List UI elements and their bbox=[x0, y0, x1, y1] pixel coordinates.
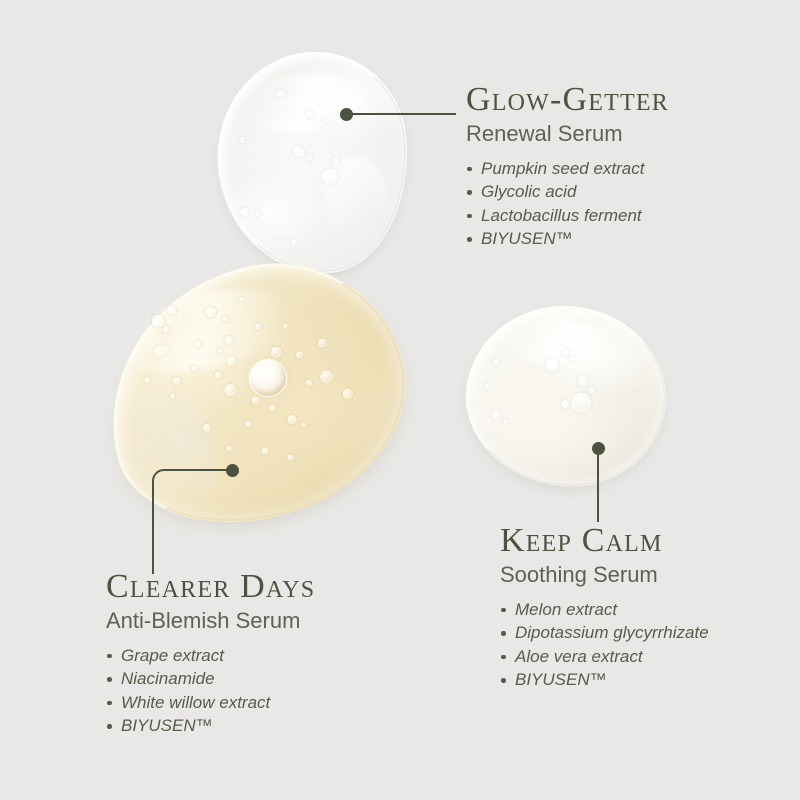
swatch-clearer-days bbox=[80, 235, 432, 550]
ingredient-item: White willow extract bbox=[106, 691, 315, 715]
ingredient-list: Grape extract Niacinamide White willow e… bbox=[106, 644, 315, 738]
product-title: Keep Calm bbox=[500, 524, 709, 558]
product-subtitle: Anti-Blemish Serum bbox=[106, 607, 315, 635]
ingredient-item: Aloe vera extract bbox=[500, 645, 709, 669]
product-subtitle: Renewal Serum bbox=[466, 120, 669, 148]
ingredient-item: Niacinamide bbox=[106, 667, 315, 691]
ingredient-item: Lactobacillus ferment bbox=[466, 204, 669, 228]
ingredient-item: BIYUSEN™ bbox=[500, 668, 709, 692]
leader-segment bbox=[174, 469, 228, 471]
ingredient-item: BIYUSEN™ bbox=[466, 227, 669, 251]
ingredient-item: Dipotassium glycyrrhizate bbox=[500, 621, 709, 645]
product-title: Glow-Getter bbox=[466, 83, 669, 117]
bubble bbox=[239, 137, 245, 143]
ingredient-item: BIYUSEN™ bbox=[106, 714, 315, 738]
product-block-glow-getter: Glow-Getter Renewal Serum Pumpkin seed e… bbox=[466, 83, 669, 251]
swatch-glow-getter bbox=[210, 46, 415, 281]
ingredient-list: Melon extract Dipotassium glycyrrhizate … bbox=[500, 598, 709, 692]
ingredient-item: Melon extract bbox=[500, 598, 709, 622]
leader-elbow bbox=[152, 469, 176, 493]
product-block-keep-calm: Keep Calm Soothing Serum Melon extract D… bbox=[500, 524, 709, 692]
ingredient-item: Glycolic acid bbox=[466, 180, 669, 204]
bubble bbox=[323, 117, 328, 122]
leader-segment bbox=[352, 113, 456, 115]
bubble bbox=[332, 157, 339, 164]
bubble bbox=[276, 89, 286, 97]
bubble bbox=[321, 168, 338, 185]
swatch-keep-calm bbox=[457, 296, 675, 496]
ingredient-item: Grape extract bbox=[106, 644, 315, 668]
product-block-clearer-days: Clearer Days Anti-Blemish Serum Grape ex… bbox=[106, 570, 315, 738]
product-subtitle: Soothing Serum bbox=[500, 561, 709, 589]
ingredient-item: Pumpkin seed extract bbox=[466, 157, 669, 181]
pearl-bubble bbox=[250, 360, 286, 396]
leader-segment bbox=[152, 490, 154, 574]
ingredient-list: Pumpkin seed extract Glycolic acid Lacto… bbox=[466, 157, 669, 251]
product-title: Clearer Days bbox=[106, 570, 315, 604]
leader-segment bbox=[597, 454, 599, 522]
product-infographic-canvas: Glow-Getter Renewal Serum Pumpkin seed e… bbox=[0, 0, 800, 800]
